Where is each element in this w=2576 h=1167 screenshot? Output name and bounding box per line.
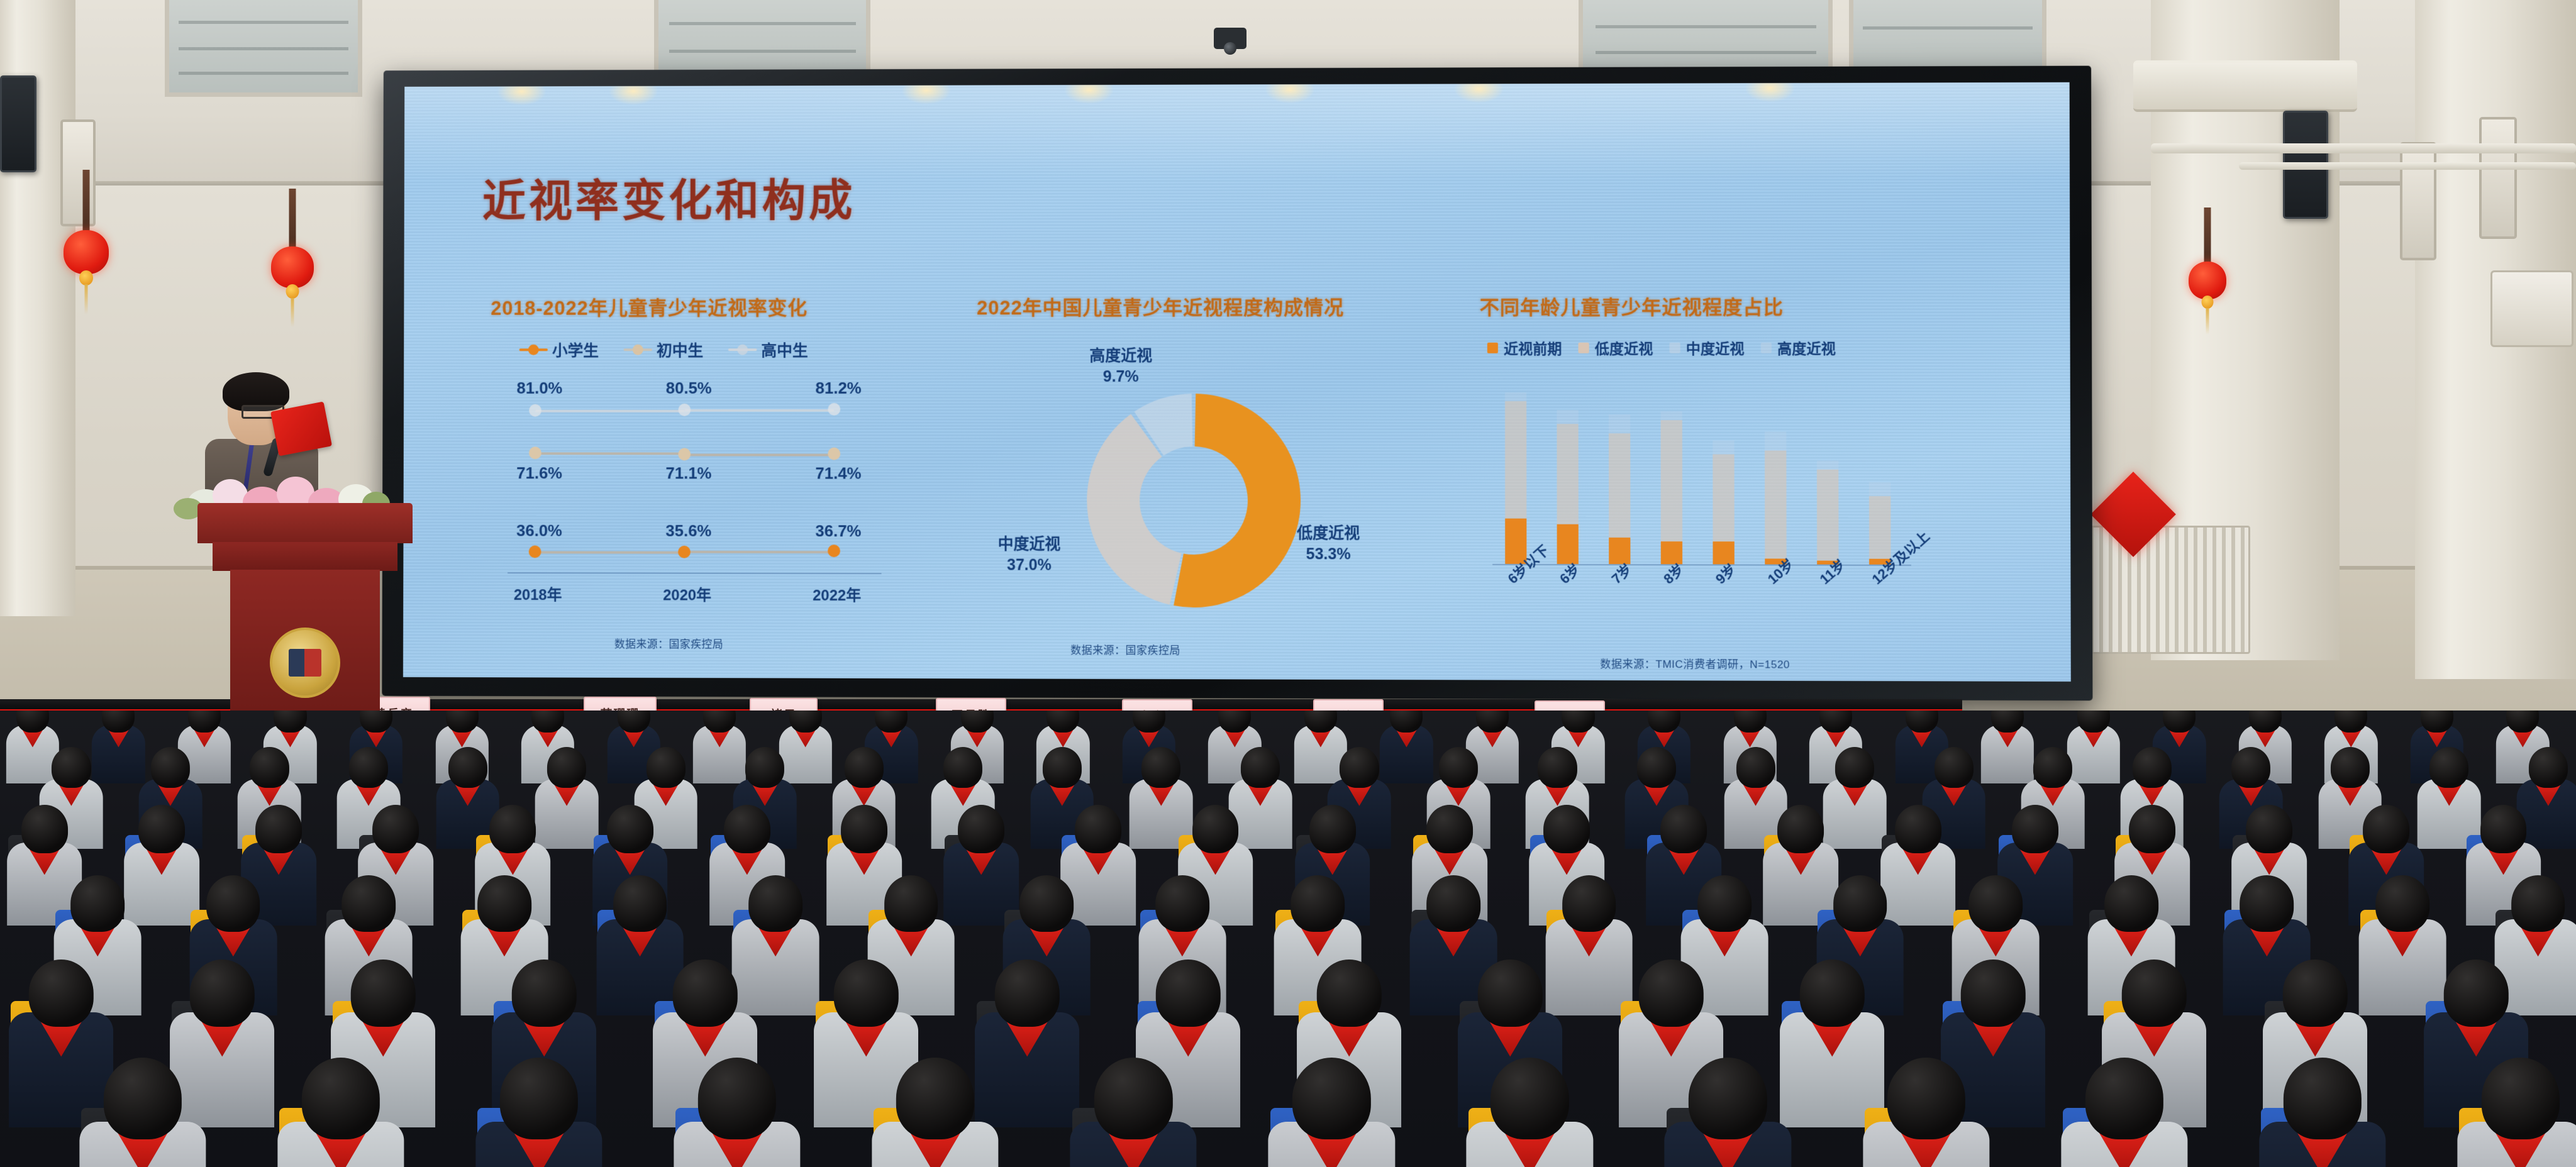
- audience-student: [1665, 1058, 1791, 1167]
- student-hair: [2331, 747, 2370, 788]
- student-hair: [1736, 747, 1775, 788]
- student-hair: [1961, 960, 2025, 1027]
- datalabel-primary-2020: 35.6%: [665, 521, 711, 541]
- legend-line-primary-school: [519, 348, 548, 351]
- student-hair: [2421, 711, 2453, 733]
- bar-6-ghost-top: [1817, 461, 1838, 470]
- bar-2[interactable]: [1609, 375, 1631, 564]
- donut-label-moderate-myopia-value: 37.0%: [1007, 556, 1052, 574]
- podium-top: [197, 503, 413, 543]
- legend-item-low-myopia[interactable]: 低度近视: [1579, 337, 1653, 358]
- legend-label-moderate-myopia: 中度近视: [1686, 337, 1745, 358]
- audience-student: [2457, 1058, 2576, 1167]
- student-hair: [2231, 747, 2270, 788]
- point-primary-2020: [678, 546, 691, 558]
- student-hair: [1476, 711, 1509, 733]
- legend-line-senior-high: [728, 348, 757, 351]
- donut-graphic[interactable]: [1068, 375, 1319, 627]
- bar-0[interactable]: [1505, 375, 1526, 564]
- student-hair: [342, 875, 396, 932]
- student-hair: [1660, 805, 1707, 853]
- legend-item-senior-high[interactable]: 高中生: [728, 338, 808, 361]
- legend-label-pre-myopia: 近视前期: [1504, 337, 1562, 358]
- bar-5[interactable]: [1765, 375, 1787, 565]
- line-chart-legend: 小学生 初中生 高中生: [519, 338, 808, 361]
- student-hair: [2163, 711, 2196, 733]
- bar-3[interactable]: [1660, 375, 1682, 564]
- student-hair: [1778, 805, 1824, 853]
- school-crest-icon: [270, 628, 340, 698]
- line-chart-source: 数据来源：国家疾控局: [614, 635, 723, 651]
- bar-4-ghost-top: [1713, 440, 1734, 454]
- student-hair: [2033, 747, 2072, 788]
- donut-slice-0[interactable]: [1174, 394, 1301, 607]
- student-hair: [29, 960, 93, 1027]
- student-hair: [547, 747, 586, 788]
- screen-hotspot-2: [609, 82, 658, 105]
- student-hair: [1543, 805, 1590, 853]
- student-hair: [2284, 1058, 2362, 1139]
- bar-0-segment-1: [1505, 401, 1526, 519]
- bar-0-ghost-top: [1505, 392, 1526, 401]
- point-senior-2018: [529, 404, 541, 417]
- audience-student: [1467, 1058, 1593, 1167]
- student-hair: [372, 805, 419, 853]
- point-senior-2022: [828, 403, 840, 416]
- bar-2-segment-1: [1609, 433, 1630, 538]
- screen-hotspot-5: [1265, 82, 1314, 103]
- line-junior-high-b: [684, 453, 834, 456]
- student-hair: [351, 960, 415, 1027]
- point-primary-2018: [529, 545, 541, 558]
- legend-label-primary-school: 小学生: [552, 338, 599, 361]
- legend-swatch-high-myopia: [1761, 342, 1772, 353]
- window-right-b: [1849, 0, 2046, 73]
- audience-student: [2061, 1058, 2187, 1167]
- student-hair: [1075, 805, 1121, 853]
- student-hair: [2375, 875, 2429, 932]
- bar-chart-xticks: 6岁以下6岁7岁8岁9岁10岁11岁12岁及以上: [1496, 570, 1941, 641]
- legend-item-primary-school[interactable]: 小学生: [519, 338, 599, 361]
- bar-7-ghost-top: [1869, 482, 1890, 496]
- legend-swatch-pre-myopia: [1487, 342, 1498, 353]
- student-hair: [2283, 960, 2347, 1027]
- point-senior-2020: [678, 404, 691, 416]
- audience-student: [2259, 1058, 2385, 1167]
- datalabel-junior-2018: 71.6%: [516, 463, 562, 483]
- student-hair: [21, 805, 68, 853]
- audience-student: [79, 1058, 206, 1167]
- donut-label-high-myopia-name: 高度近视: [1089, 347, 1152, 365]
- student-hair: [884, 875, 938, 932]
- line-senior-high-b: [684, 409, 834, 412]
- student-hair: [1935, 747, 1974, 788]
- screen-hotspot-3: [902, 82, 951, 104]
- student-hair: [724, 805, 770, 853]
- datalabel-primary-2022: 36.7%: [815, 521, 861, 541]
- bar-4-segment-1: [1713, 455, 1734, 542]
- screen-hotspot-4: [1065, 82, 1114, 104]
- audience-student: [475, 1058, 602, 1167]
- student-hair: [531, 711, 564, 733]
- student-hair: [2077, 711, 2110, 733]
- ceiling-pipe-b: [2239, 162, 2576, 170]
- legend-item-pre-myopia[interactable]: 近视前期: [1487, 337, 1562, 358]
- bar-2-ghost-top: [1609, 414, 1630, 433]
- line-chart-plot: 81.0% 80.5% 81.2% 71.6% 71.1%: [502, 379, 939, 585]
- xtick-2020: 2020年: [663, 583, 711, 605]
- datalabel-junior-2020: 71.1%: [665, 463, 711, 483]
- legend-label-low-myopia: 低度近视: [1595, 337, 1653, 358]
- audience-student: [1269, 1058, 1395, 1167]
- bar-1[interactable]: [1557, 375, 1578, 564]
- student-hair: [2444, 960, 2508, 1027]
- screen-hotspot-1: [497, 82, 546, 105]
- student-hair: [500, 1058, 578, 1139]
- audience-student: [674, 1058, 800, 1167]
- datalabel-senior-2020: 80.5%: [666, 379, 712, 398]
- student-hair: [1094, 1058, 1172, 1139]
- student-hair: [1043, 747, 1082, 788]
- student-hair: [477, 875, 531, 932]
- point-junior-2018: [529, 446, 541, 459]
- student-hair: [188, 711, 221, 733]
- student-hair: [1390, 711, 1423, 733]
- point-primary-2022: [828, 545, 840, 557]
- legend-swatch-low-myopia: [1579, 342, 1589, 353]
- student-hair: [2506, 711, 2539, 733]
- bar-5-segment-1: [1765, 451, 1787, 559]
- student-hair: [16, 711, 49, 733]
- panel-donut-chart: 2022年中国儿童青少年近视程度构成情况 高度近视 9.7% 中度近视 37.0…: [977, 292, 1455, 657]
- podium-body: [230, 570, 380, 713]
- student-hair: [2249, 711, 2282, 733]
- student-hair: [943, 747, 982, 788]
- student-hair: [1309, 805, 1356, 853]
- student-hair: [255, 805, 302, 853]
- bar-5-ghost-top: [1765, 431, 1786, 450]
- student-hair: [70, 875, 125, 932]
- line-primary-b: [684, 551, 834, 553]
- student-hair: [1733, 711, 1766, 733]
- student-hair: [206, 875, 260, 932]
- student-hair: [1317, 960, 1381, 1027]
- student-hair: [703, 711, 736, 733]
- donut-chart-title: 2022年中国儿童青少年近视程度构成情况: [977, 292, 1455, 320]
- legend-item-high-myopia[interactable]: 高度近视: [1761, 337, 1836, 358]
- bar-7[interactable]: [1869, 375, 1891, 565]
- student-hair: [1835, 747, 1874, 788]
- panel-bar-chart: 不同年龄儿童青少年近视程度占比 近视前期 低度近视 中度近视: [1480, 291, 1988, 671]
- panel-line-chart: 2018-2022年儿童青少年近视率变化 小学生 初中生 高中生: [490, 292, 977, 643]
- window-left: [165, 0, 362, 97]
- student-hair: [2482, 1058, 2560, 1139]
- datalabel-senior-2022: 81.2%: [816, 379, 862, 398]
- student-hair: [1800, 960, 1864, 1027]
- xtick-2018: 2018年: [514, 582, 562, 604]
- audience-student: [1863, 1058, 1989, 1167]
- student-hair: [1887, 1058, 1965, 1139]
- student-hair: [104, 1058, 182, 1139]
- student-hair: [1292, 1058, 1370, 1139]
- screen-hotspot-6: [1454, 82, 1503, 103]
- student-hair: [2429, 747, 2468, 788]
- student-hair: [2104, 875, 2158, 932]
- student-hair: [1426, 875, 1480, 932]
- bar-3-segment-1: [1661, 420, 1682, 541]
- student-hair: [1562, 711, 1594, 733]
- student-hair: [1141, 747, 1180, 788]
- student-hair: [1991, 711, 2024, 733]
- student-hair: [1155, 875, 1209, 932]
- bar-1-segment-1: [1557, 424, 1578, 524]
- student-hair: [2511, 875, 2565, 932]
- legend-swatch-moderate-myopia: [1670, 342, 1680, 353]
- student-hair: [2334, 711, 2367, 733]
- bar-6-segment-1: [1817, 470, 1839, 561]
- presentation-screen[interactable]: 近视率变化和构成 2018-2022年儿童青少年近视率变化 小学生 初中生: [403, 82, 2071, 682]
- student-hair: [1968, 875, 2023, 932]
- student-hair: [1241, 747, 1280, 788]
- student-hair: [1895, 805, 1941, 853]
- pillar-capital-right: [2133, 60, 2357, 112]
- donut-chart-source: 数据来源：国家疾控局: [1070, 641, 1180, 657]
- student-hair: [512, 960, 576, 1027]
- student-hair: [875, 711, 908, 733]
- student-hair: [1906, 711, 1938, 733]
- student-hair: [1133, 711, 1165, 733]
- student-hair: [1192, 805, 1239, 853]
- legend-line-junior-high: [624, 348, 653, 351]
- lantern-decor-2: [264, 189, 321, 331]
- student-hair: [302, 1058, 380, 1139]
- bar-chart-axis: [1492, 564, 1911, 566]
- audience-student: [1070, 1058, 1197, 1167]
- bar-4[interactable]: [1713, 375, 1735, 564]
- student-hair: [2363, 805, 2409, 853]
- student-hair: [2085, 1058, 2163, 1139]
- student-hair: [360, 711, 392, 733]
- bar-7-segment-1: [1869, 496, 1891, 559]
- point-junior-2022: [828, 448, 840, 460]
- student-hair: [1637, 747, 1676, 788]
- legend-item-moderate-myopia[interactable]: 中度近视: [1670, 337, 1745, 358]
- student-hair: [274, 711, 306, 733]
- line-chart-axis: [508, 572, 881, 574]
- student-hair: [52, 747, 91, 788]
- student-hair: [445, 711, 478, 733]
- student-hair: [190, 960, 254, 1027]
- point-junior-2020: [678, 448, 691, 461]
- student-hair: [1439, 747, 1478, 788]
- student-hair: [1689, 1058, 1767, 1139]
- donut-label-moderate-myopia-name: 中度近视: [998, 536, 1061, 553]
- student-hair: [2133, 747, 2172, 788]
- student-hair: [1648, 711, 1680, 733]
- line-senior-high-a: [535, 410, 684, 412]
- student-hair: [607, 805, 653, 853]
- student-hair: [250, 747, 289, 788]
- student-hair: [1491, 1058, 1568, 1139]
- student-hair: [1697, 875, 1752, 932]
- student-hair: [2480, 805, 2527, 853]
- student-hair: [995, 960, 1059, 1027]
- audience-student: [872, 1058, 999, 1167]
- bar-6[interactable]: [1817, 375, 1839, 565]
- bar-chart-plot: [1496, 375, 1941, 565]
- screen-hotspot-7: [1745, 82, 1795, 102]
- presentation-screen-frame: 近视率变化和构成 2018-2022年儿童青少年近视率变化 小学生 初中生: [382, 66, 2092, 701]
- bar-chart-legend: 近视前期 低度近视 中度近视 高度近视: [1487, 337, 1836, 358]
- lantern-decor-1: [58, 170, 114, 314]
- student-hair: [2240, 875, 2294, 932]
- student-hair: [834, 960, 898, 1027]
- datalabel-junior-2022: 71.4%: [815, 464, 861, 484]
- auditorium-scene: 近视率变化和构成 2018-2022年儿童青少年近视率变化 小学生 初中生: [0, 0, 2576, 1167]
- student-hair: [647, 747, 686, 788]
- student-hair: [1019, 875, 1074, 932]
- bar-1-ghost-top: [1557, 410, 1578, 424]
- ceiling-pipe-a: [2151, 143, 2576, 153]
- student-hair: [845, 747, 884, 788]
- audience-student: [277, 1058, 404, 1167]
- bar-chart-source: 数据来源：TMIC消费者调研，N=1520: [1600, 655, 1790, 672]
- student-hair: [1304, 711, 1337, 733]
- student-hair: [1562, 875, 1616, 932]
- student-hair: [349, 747, 388, 788]
- legend-item-junior-high[interactable]: 初中生: [624, 338, 704, 361]
- student-hair: [1538, 747, 1577, 788]
- student-hair: [490, 805, 536, 853]
- legend-label-senior-high: 高中生: [761, 338, 808, 361]
- podium: [208, 503, 402, 711]
- student-hair: [2012, 805, 2058, 853]
- student-hair: [613, 875, 667, 932]
- student-hair: [102, 711, 135, 733]
- student-hair: [789, 711, 822, 733]
- line-primary-a: [535, 551, 684, 553]
- student-hair: [2529, 747, 2568, 788]
- wall-speaker-left: [0, 75, 36, 172]
- student-hair: [896, 1058, 974, 1139]
- student-hair: [961, 711, 994, 733]
- student-hair: [2129, 805, 2175, 853]
- donut-svg: [1068, 375, 1319, 627]
- student-hair: [698, 1058, 776, 1139]
- student-hair: [138, 805, 185, 853]
- student-hair: [1833, 875, 1887, 932]
- student-hair: [745, 747, 784, 788]
- legend-label-junior-high: 初中生: [657, 338, 703, 361]
- wall-speaker-slim-right: [2400, 142, 2436, 260]
- student-hair: [1156, 960, 1220, 1027]
- line-junior-high-a: [535, 452, 684, 455]
- line-chart-title: 2018-2022年儿童青少年近视率变化: [491, 292, 977, 320]
- podium-neck: [213, 542, 397, 571]
- student-hair: [448, 747, 487, 788]
- xtick-2022: 2022年: [813, 583, 861, 605]
- student-hair: [618, 711, 650, 733]
- lantern-decor-3: [2182, 207, 2233, 340]
- student-hair: [841, 805, 887, 853]
- student-hair: [673, 960, 737, 1027]
- slide-title: 近视率变化和构成: [482, 165, 856, 229]
- student-hair: [1218, 711, 1251, 733]
- student-hair: [748, 875, 802, 932]
- student-hair: [958, 805, 1004, 853]
- bar-3-ghost-top: [1661, 411, 1682, 420]
- student-hair: [1639, 960, 1703, 1027]
- datalabel-primary-2018: 36.0%: [516, 521, 562, 541]
- legend-label-high-myopia: 高度近视: [1777, 337, 1836, 358]
- student-hair: [151, 747, 190, 788]
- student-hair: [1291, 875, 1345, 932]
- student-hair: [2122, 960, 2186, 1027]
- student-hair: [1478, 960, 1542, 1027]
- ac-unit: [2490, 270, 2573, 347]
- wall-speaker-slim-far-right: [2479, 117, 2517, 239]
- student-hair: [1340, 747, 1379, 788]
- student-hair: [1819, 711, 1852, 733]
- student-audience: [0, 711, 2576, 1167]
- datalabel-senior-2018: 81.0%: [516, 379, 562, 398]
- student-hair: [1426, 805, 1473, 853]
- presenter-red-booklet: [270, 401, 332, 456]
- student-hair: [1046, 711, 1079, 733]
- bar-chart-title: 不同年龄儿童青少年近视程度占比: [1480, 291, 1987, 320]
- bar-1-segment-0: [1557, 524, 1579, 564]
- student-hair: [2246, 805, 2292, 853]
- ceiling-camera: [1214, 28, 1246, 49]
